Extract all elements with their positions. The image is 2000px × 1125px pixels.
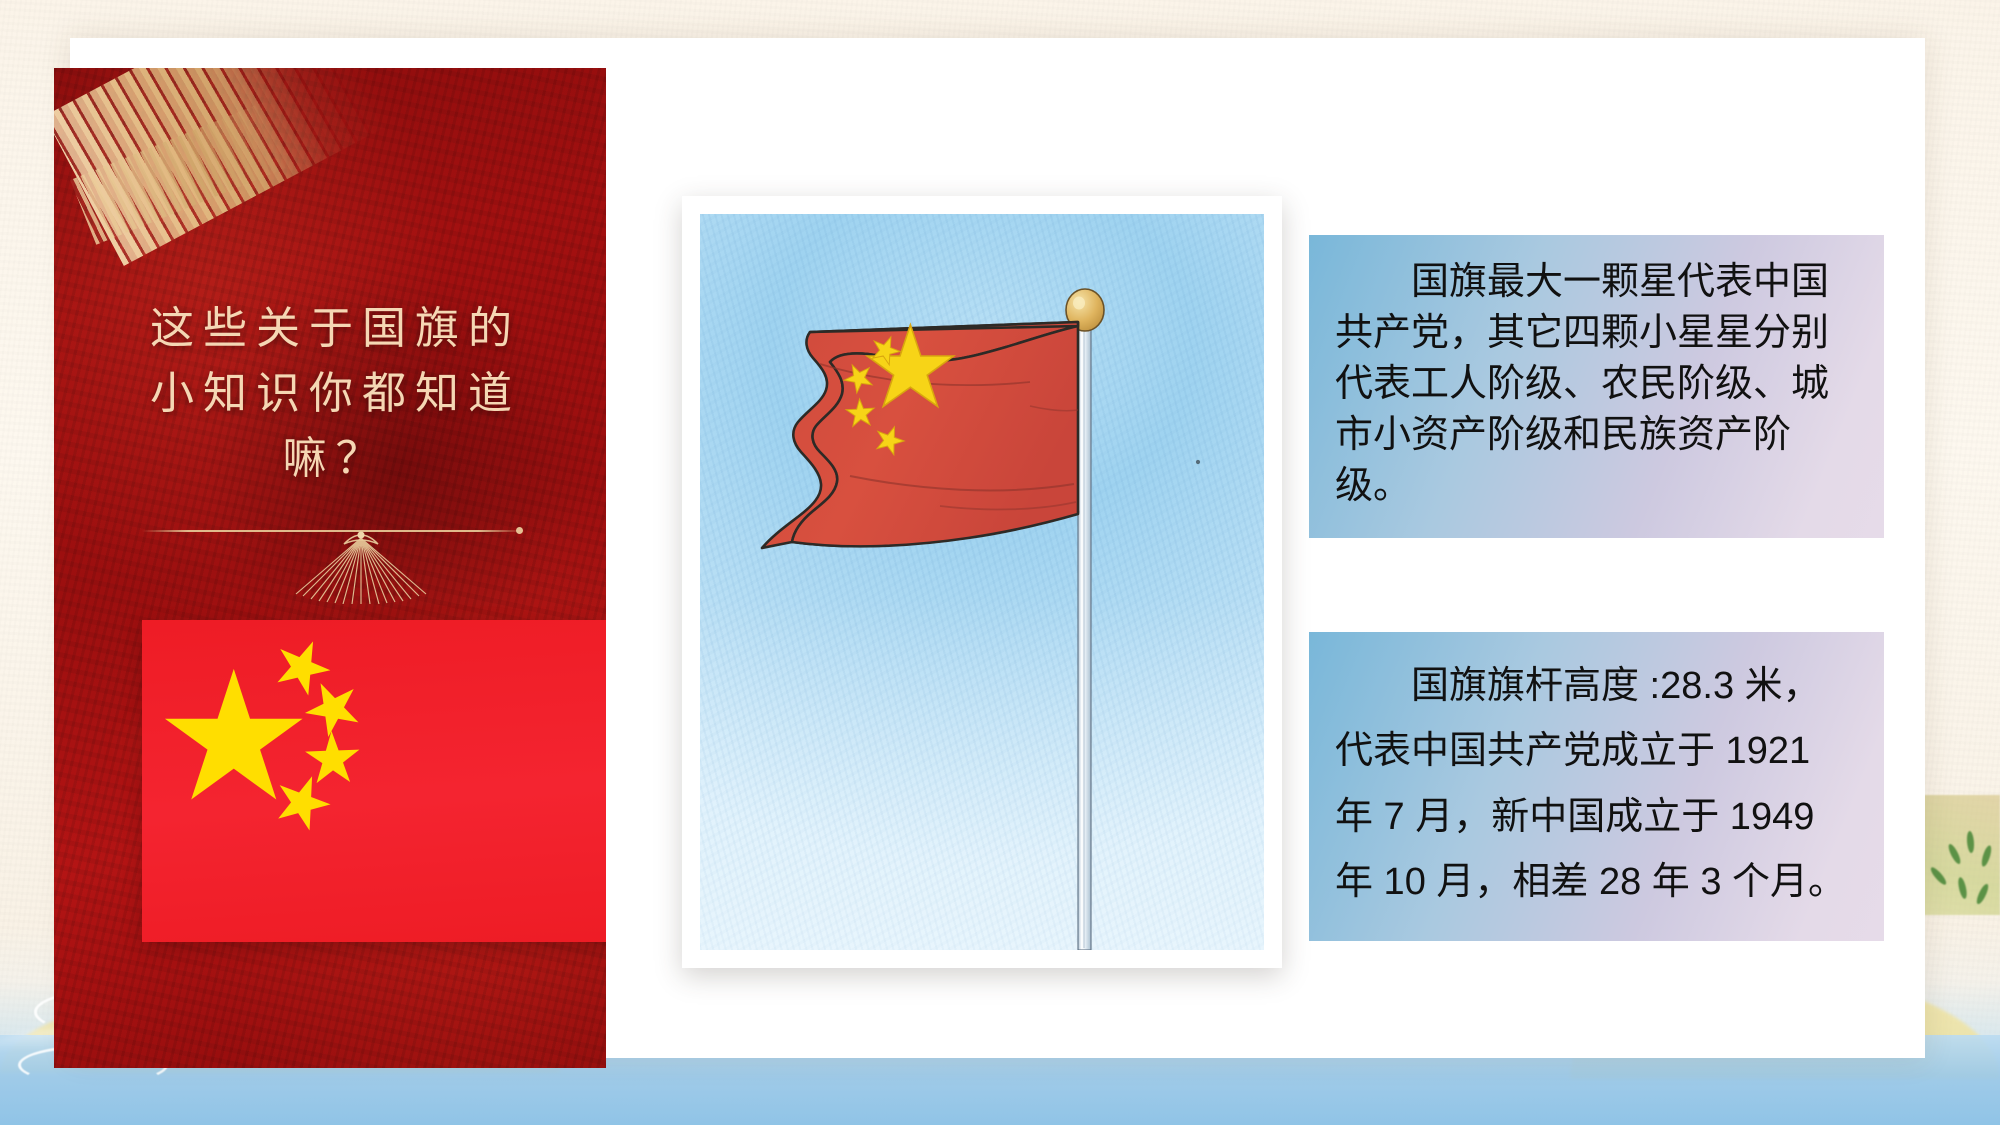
info-panel-stars-meaning: 国旗最大一颗星代表中国共产党，其它四颗小星星分别代表工人阶级、农民阶级、城市小资… xyxy=(1309,235,1884,538)
flag-and-pole-drawing xyxy=(700,214,1264,950)
info-panel-pole-height: 国旗旗杆高度 :28.3 米，代表中国共产党成立于 1921 年 7 月，新中国… xyxy=(1309,632,1884,941)
title-line-1: 这些关于国旗的 xyxy=(116,296,546,361)
fan-sunburst-icon xyxy=(286,520,436,604)
red-title-card: 这些关于国旗的 小知识你都知道 嘛？ xyxy=(54,68,606,1068)
title-line-3: 嘛？ xyxy=(116,426,546,491)
slide-canvas: 这些关于国旗的 小知识你都知道 嘛？ xyxy=(70,38,1925,1058)
hand-drawn-flag-illustration xyxy=(700,214,1264,950)
page-title: 这些关于国旗的 小知识你都知道 嘛？ xyxy=(116,296,546,491)
divider-end-dot xyxy=(516,527,523,534)
info-panel-text: 国旗旗杆高度 :28.3 米，代表中国共产党成立于 1921 年 7 月，新中国… xyxy=(1335,654,1858,915)
info-panel-text: 国旗最大一颗星代表中国共产党，其它四颗小星星分别代表工人阶级、农民阶级、城市小资… xyxy=(1335,257,1858,512)
flag-photo-frame xyxy=(682,196,1282,968)
title-line-2: 小知识你都知道 xyxy=(116,361,546,426)
china-flag-graphic xyxy=(142,620,606,942)
flag-stars xyxy=(142,620,606,942)
slide-page: 这些关于国旗的 小知识你都知道 嘛？ xyxy=(0,0,2000,1125)
